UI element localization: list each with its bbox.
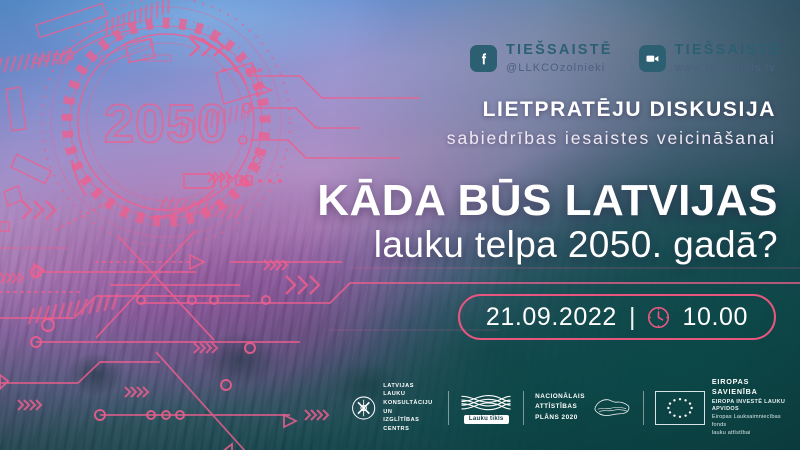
social-item-stream[interactable]: TIEŠSAISTĒ www.laukutikls.lv (639, 42, 782, 75)
datetime-badge: 21.09.2022 | 10.00 (458, 294, 776, 340)
sponsor-logo-bar: LATVIJAS LAUKU KONSULTĀCIJU UN IZGLĪTĪBA… (340, 377, 800, 438)
nap-line-3: PLĀNS 2020 (535, 413, 585, 424)
llkc-line-2: KONSULTĀCIJU UN (383, 399, 437, 416)
facebook-handle: @LLKCOzolnieki (506, 62, 605, 74)
llkc-line-1: LATVIJAS LAUKU (383, 382, 437, 399)
logo-llkc: LATVIJAS LAUKU KONSULTĀCIJU UN IZGLĪTĪBA… (340, 382, 448, 434)
llkc-emblem-icon (351, 393, 376, 423)
event-kicker-sub: sabiedrības iesaistes veicināšanai (447, 128, 776, 149)
nap-text-block: NACIONĀLAIS ATTĪSTĪBAS PLĀNS 2020 (535, 392, 585, 424)
lauku-tikls-name: Lauku tīkls (464, 415, 509, 424)
nap-line-1: NACIONĀLAIS (535, 392, 585, 403)
latvia-map-icon (592, 395, 632, 421)
stream-title: TIEŠSAISTĒ (675, 42, 782, 58)
promotional-poster: 2050 (0, 0, 800, 450)
facebook-title: TIEŠSAISTĒ (506, 42, 613, 58)
logo-lauku-tikls: Lauku tīkls (449, 392, 523, 424)
social-links-row: TIEŠSAISTĒ @LLKCOzolnieki TIEŠSAISTĒ www… (470, 42, 781, 75)
eu-flag-icon (655, 391, 705, 425)
page-title-line-2: lauku telpa 2050. gadā? (374, 224, 778, 266)
page-title-line-1: KĀDA BŪS LATVIJAS (317, 176, 778, 226)
eu-text-block: EIROPAS SAVIENĪBA EIROPA INVESTĒ LAUKU A… (712, 377, 789, 438)
eu-line-1: EIROPA INVESTĒ LAUKU APVIDOS (712, 399, 789, 414)
eu-line-2: Eiropas Lauksaimniecības fonds (712, 414, 789, 430)
nap-line-2: ATTĪSTĪBAS (535, 402, 585, 413)
event-kicker: LIETPRATĒJU DISKUSIJA (483, 98, 776, 122)
logo-nap-2020: NACIONĀLAIS ATTĪSTĪBAS PLĀNS 2020 (524, 392, 643, 424)
logo-european-union: EIROPAS SAVIENĪBA EIROPA INVESTĒ LAUKU A… (644, 377, 800, 438)
clock-icon (647, 306, 670, 329)
hud-year-label: 2050 (104, 94, 228, 154)
badge-separator: | (629, 303, 636, 332)
stream-url: www.laukutikls.lv (675, 62, 776, 74)
llkc-line-3: IZGLĪTĪBAS CENTRS (383, 416, 437, 433)
woven-net-icon (460, 392, 512, 414)
event-time: 10.00 (682, 303, 748, 332)
llkc-text-block: LATVIJAS LAUKU KONSULTĀCIJU UN IZGLĪTĪBA… (383, 382, 437, 434)
video-camera-icon (639, 45, 666, 72)
event-date: 21.09.2022 (486, 303, 617, 332)
stream-text-block: TIEŠSAISTĒ www.laukutikls.lv (675, 42, 782, 75)
eu-title: EIROPAS SAVIENĪBA (712, 377, 789, 397)
eu-line-3: lauku attīstībai (712, 430, 789, 438)
facebook-icon (470, 45, 497, 72)
facebook-text-block: TIEŠSAISTĒ @LLKCOzolnieki (506, 42, 613, 75)
social-item-facebook[interactable]: TIEŠSAISTĒ @LLKCOzolnieki (470, 42, 613, 75)
